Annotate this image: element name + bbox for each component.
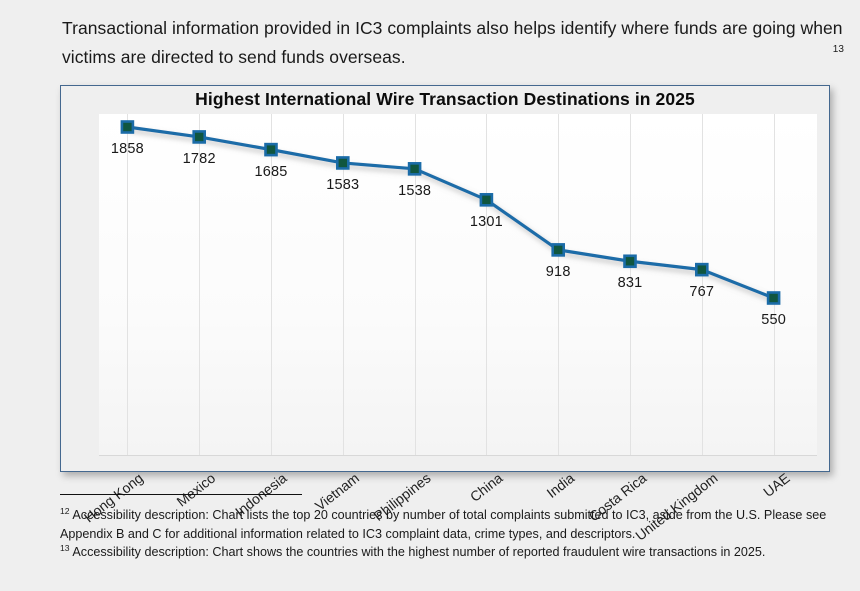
chart-title: Highest International Wire Transaction D… — [61, 89, 829, 110]
data-value-label: 550 — [761, 312, 786, 328]
intro-paragraph-text: Transactional information provided in IC… — [62, 18, 843, 67]
gridline — [415, 114, 416, 456]
chart-x-axis-line — [99, 455, 817, 456]
data-value-label: 767 — [689, 284, 714, 300]
gridline — [127, 114, 128, 456]
footnote-item: 12 Accessibility description: Chart list… — [60, 506, 845, 543]
footnote-item: 13 Accessibility description: Chart show… — [60, 543, 845, 562]
data-value-label: 1685 — [254, 164, 287, 180]
x-tick-label: India — [543, 470, 577, 501]
data-value-label: 1301 — [470, 214, 503, 230]
footnote-marker: 12 — [60, 506, 70, 516]
x-tick-label: UAE — [760, 470, 793, 500]
footnotes-block: 12 Accessibility description: Chart list… — [60, 506, 845, 562]
x-tick-label: China — [467, 470, 506, 505]
x-tick-label: Mexico — [173, 470, 218, 510]
footnote-marker: 13 — [60, 543, 70, 553]
data-value-label: 1538 — [398, 183, 431, 199]
data-value-label: 1858 — [111, 141, 144, 157]
data-value-label: 1782 — [183, 151, 216, 167]
data-value-label: 918 — [546, 264, 571, 280]
footnote-divider — [60, 494, 302, 495]
footnote-text: Accessibility description: Chart shows t… — [70, 545, 766, 559]
gridline — [774, 114, 775, 456]
gridline — [486, 114, 487, 456]
gridline — [343, 114, 344, 456]
data-value-label: 1583 — [326, 177, 359, 193]
gridline — [558, 114, 559, 456]
data-value-label: 831 — [618, 275, 643, 291]
chart-container: Highest International Wire Transaction D… — [60, 85, 830, 472]
footnote-text: Accessibility description: Chart lists t… — [60, 508, 826, 541]
intro-paragraph: Transactional information provided in IC… — [62, 14, 844, 72]
